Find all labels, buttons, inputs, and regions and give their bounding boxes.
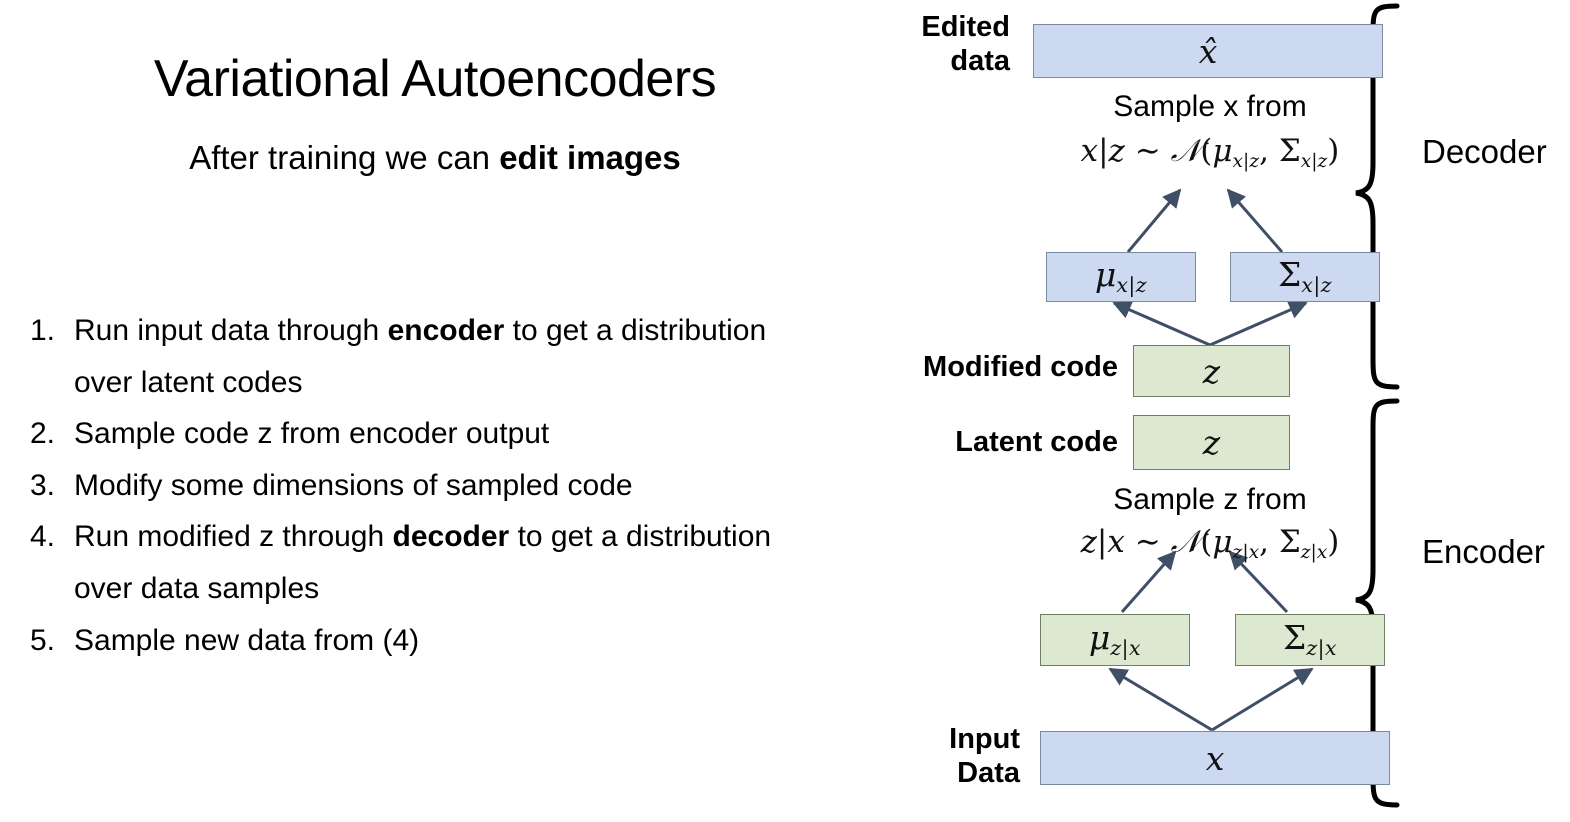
- arrow-sigma-xz-to-dist: [1228, 190, 1282, 252]
- input-data-label: Input Data: [890, 722, 1020, 790]
- list-item-text-pre: Sample code z from encoder output: [74, 417, 549, 450]
- list-item-text-bold: encoder: [388, 314, 505, 347]
- list-item-text-pre: Run input data through: [74, 314, 388, 347]
- node-mu-x-given-z: μx|z: [1046, 252, 1196, 302]
- node-z-modified-glyph: z: [1203, 355, 1220, 388]
- input-data-label-line1: Input: [890, 722, 1020, 756]
- list-item-text: Modify some dimensions of sampled code: [74, 460, 814, 512]
- encoder-brace-label: Encoder: [1422, 533, 1545, 571]
- edited-data-label: Edited data: [895, 10, 1010, 78]
- decoder-brace-label: Decoder: [1422, 133, 1547, 171]
- node-z-modified: z: [1133, 345, 1290, 397]
- node-x-input-glyph: x: [1206, 742, 1225, 775]
- vae-architecture-diagram: Edited data x̂ Sample x from x|z ∼ 𝒩(μx|…: [870, 0, 1570, 822]
- node-mu-z-given-x-glyph: μz|x: [1089, 621, 1141, 659]
- arrow-x-to-sigma-zx: [1212, 669, 1312, 730]
- decoder-brace-label-text: Decoder: [1422, 133, 1547, 170]
- node-sigma-z-given-x: Σz|x: [1235, 614, 1385, 666]
- list-item-text: Sample code z from encoder output: [74, 408, 814, 460]
- steps-list: 1. Run input data through encoder to get…: [18, 305, 858, 666]
- node-sigma-z-given-x-glyph: Σz|x: [1283, 621, 1337, 659]
- node-mu-x-given-z-glyph: μx|z: [1095, 258, 1147, 296]
- sample-x-caption-text: Sample x from: [1113, 90, 1306, 123]
- node-mu-z-given-x: μz|x: [1040, 614, 1190, 666]
- list-item-text: Run input data through encoder to get a …: [74, 305, 814, 408]
- list-item: 3. Modify some dimensions of sampled cod…: [18, 460, 858, 512]
- list-item-text: Run modified z through decoder to get a …: [74, 511, 814, 614]
- page-subtitle: After training we can edit images: [0, 138, 870, 178]
- list-item-text: Sample new data from (4): [74, 615, 814, 667]
- node-x-hat: x̂: [1033, 24, 1383, 78]
- node-x-hat-glyph: x̂: [1199, 35, 1218, 68]
- decoder-distribution-formula: x|z ∼ 𝒩(μx|z, Σx|z): [1010, 133, 1410, 172]
- modified-code-label-text: Modified code: [923, 351, 1118, 383]
- node-x-input: x: [1040, 731, 1390, 785]
- sample-z-caption-text: Sample z from: [1113, 483, 1306, 516]
- list-item-number: 3.: [18, 460, 74, 512]
- list-item-number: 5.: [18, 615, 74, 667]
- list-item: 5. Sample new data from (4): [18, 615, 858, 667]
- list-item-text-pre: Run modified z through: [74, 520, 393, 553]
- edited-data-label-line1: Edited: [895, 10, 1010, 44]
- arrow-mu-xz-to-dist: [1128, 190, 1180, 252]
- modified-code-label: Modified code: [878, 350, 1118, 384]
- list-item-number: 2.: [18, 408, 74, 460]
- list-item-number: 4.: [18, 511, 74, 563]
- encoder-distribution-formula: z|x ∼ 𝒩(μz|x, Σz|x): [1010, 524, 1410, 563]
- list-item-text-pre: Sample new data from (4): [74, 624, 419, 657]
- sample-x-caption: Sample x from: [1025, 90, 1395, 124]
- latent-code-label: Latent code: [898, 425, 1118, 459]
- node-sigma-z-given-x-subscript: z|x: [1306, 636, 1337, 660]
- subtitle-plain-text: After training we can: [189, 139, 499, 176]
- node-z-latent: z: [1133, 415, 1290, 470]
- node-sigma-x-given-z-subscript: x|z: [1301, 273, 1332, 297]
- subtitle-emphasis-text: edit images: [499, 139, 681, 176]
- slide-left-panel: Variational Autoencoders After training …: [0, 0, 870, 822]
- node-mu-x-given-z-subscript: x|z: [1116, 273, 1147, 297]
- arrow-z-modified-to-sigma-xz: [1210, 303, 1306, 345]
- node-z-latent-glyph: z: [1203, 426, 1220, 459]
- sample-z-caption: Sample z from: [1025, 483, 1395, 517]
- node-sigma-x-given-z: Σx|z: [1230, 252, 1380, 302]
- list-item: 4. Run modified z through decoder to get…: [18, 511, 858, 614]
- arrow-z-modified-to-mu-xz: [1114, 303, 1210, 345]
- page-title: Variational Autoencoders: [0, 52, 870, 107]
- arrow-x-to-mu-zx: [1110, 669, 1212, 730]
- list-item-number: 1.: [18, 305, 74, 357]
- list-item-text-bold: decoder: [393, 520, 510, 553]
- node-mu-z-given-x-subscript: z|x: [1110, 636, 1141, 660]
- node-sigma-x-given-z-glyph: Σx|z: [1278, 258, 1332, 296]
- list-item: 2. Sample code z from encoder output: [18, 408, 858, 460]
- list-item: 1. Run input data through encoder to get…: [18, 305, 858, 408]
- input-data-label-line2: Data: [890, 756, 1020, 790]
- latent-code-label-text: Latent code: [955, 426, 1118, 458]
- edited-data-label-line2: data: [895, 44, 1010, 78]
- encoder-brace-label-text: Encoder: [1422, 533, 1545, 570]
- list-item-text-pre: Modify some dimensions of sampled code: [74, 469, 633, 502]
